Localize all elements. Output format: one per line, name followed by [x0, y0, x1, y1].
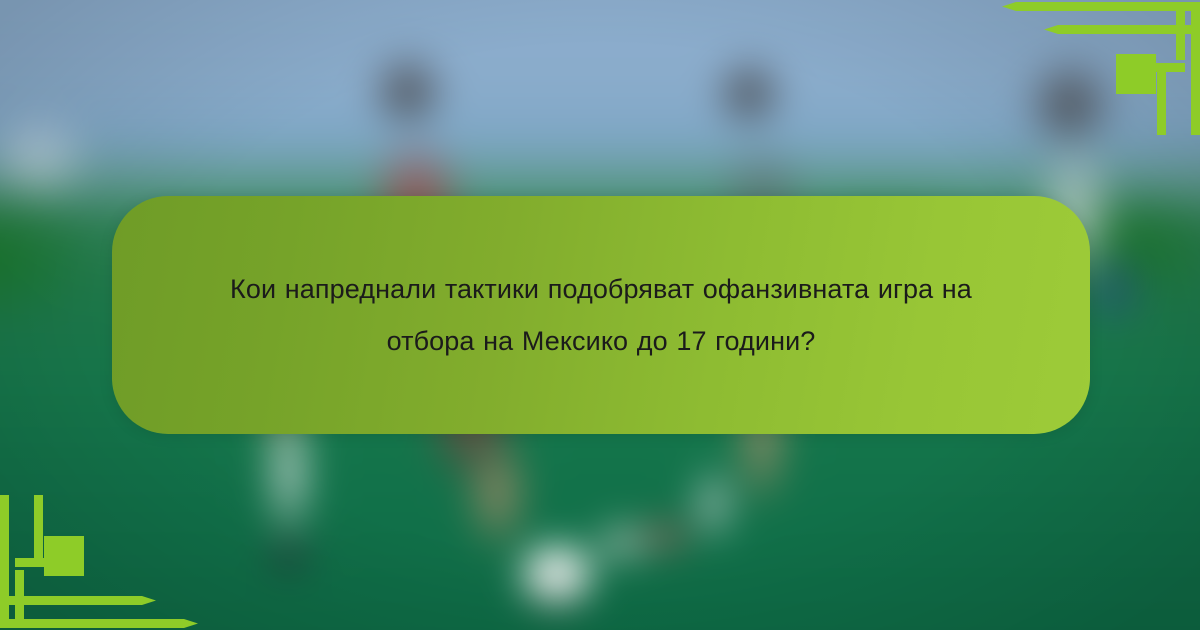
page-root: Кои напреднали тактики подобряват офанзи… [0, 0, 1200, 630]
question-text: Кои напреднали тактики подобряват офанзи… [201, 263, 1001, 367]
question-card: Кои напреднали тактики подобряват офанзи… [112, 196, 1090, 434]
